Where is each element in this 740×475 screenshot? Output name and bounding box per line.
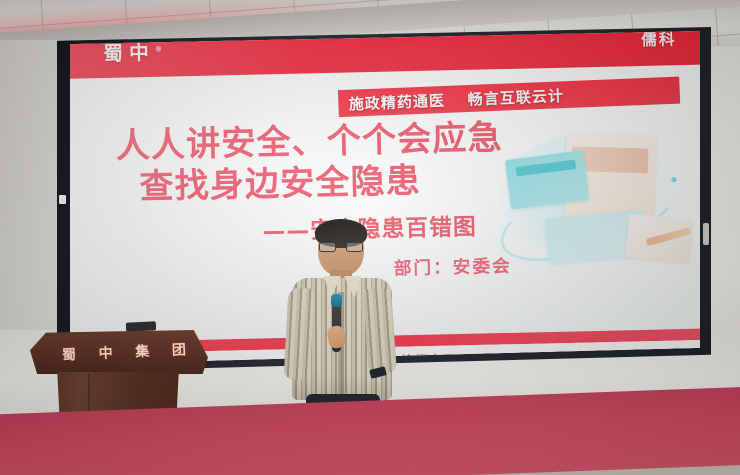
glasses-bridge: [336, 246, 346, 248]
microphone-head: [331, 294, 342, 307]
podium-char-3: 集: [135, 341, 150, 362]
presentation-photo-scene: 蜀中® 儒科 施政精药通医 畅言互联云计: [0, 0, 740, 475]
illustration-dot-1: [671, 177, 676, 182]
speaker-arm-right: [363, 287, 397, 375]
partner-logo: 儒科: [641, 30, 677, 50]
podium-char-1: 蜀: [62, 344, 77, 365]
glasses-lens-right: [346, 242, 363, 252]
screen-left-button[interactable]: [59, 195, 66, 204]
screen-right-control[interactable]: [703, 223, 709, 245]
glasses-lens-left: [319, 242, 336, 252]
registered-mark-icon: ®: [155, 45, 162, 53]
tagline-item-1: 施政精药通医: [348, 89, 445, 115]
podium-char-4: 团: [171, 339, 186, 360]
brand-logo-text: 蜀中: [103, 42, 155, 66]
podium-char-2: 中: [98, 343, 113, 364]
speaker-arm-left: [284, 287, 315, 380]
speaker-glasses-icon: [319, 242, 363, 252]
slide-department: 部门：安委会: [393, 251, 512, 280]
podium-microphone[interactable]: [126, 321, 156, 332]
tagline-item-2: 畅言互联云计: [467, 84, 564, 110]
slide-title: 人人讲安全、个个会应急 查找身边安全隐患: [115, 114, 603, 208]
slide-tagline: 施政精药通医 畅言互联云计: [338, 77, 680, 117]
